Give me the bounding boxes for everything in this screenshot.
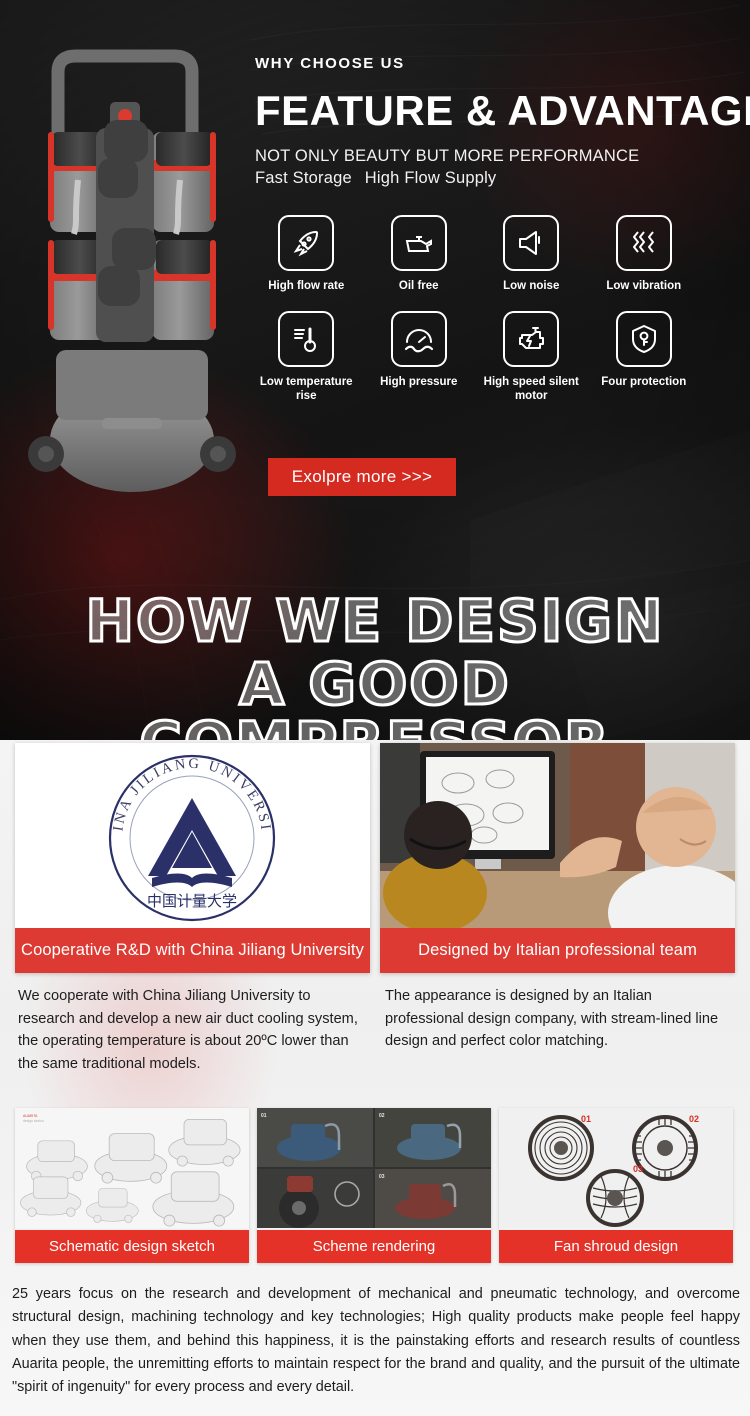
design-cards-row: CHINA JILIANG UNIVERSITY 中国计量大学 Cooperat… (15, 743, 735, 973)
fan-shroud-card[interactable]: 01 02 03 Fan shroud design (499, 1108, 733, 1263)
feature-item[interactable]: High flow rate (250, 215, 363, 293)
feature-item[interactable]: High pressure (363, 311, 476, 403)
fan-shroud-designs: 01 02 03 (499, 1108, 733, 1228)
paragraph-university: We cooperate with China Jiliang Universi… (18, 985, 367, 1075)
process-cards-row: AUARITAdesign sketch Schematic design sk… (15, 1108, 735, 1263)
hero-section: WHY CHOOSE US FEATURE & ADVANTAGE NOT ON… (0, 0, 750, 740)
svg-text:01: 01 (261, 1113, 267, 1119)
gauge-icon (391, 311, 447, 367)
feature-item[interactable]: Low vibration (588, 215, 701, 293)
fan-label-02: 02 (689, 1114, 699, 1124)
feature-label: Four protection (601, 375, 686, 389)
page-title: FEATURE & ADVANTAGE (255, 89, 735, 133)
feature-item[interactable]: Low temperature rise (250, 311, 363, 403)
sketch-card[interactable]: AUARITAdesign sketch Schematic design sk… (15, 1108, 249, 1263)
design-paragraphs: We cooperate with China Jiliang Universi… (18, 985, 734, 1075)
high-flow-label: High Flow Supply (365, 169, 497, 187)
sketch-caption: Schematic design sketch (15, 1230, 249, 1263)
fan-shroud-caption: Fan shroud design (499, 1230, 733, 1263)
design-team-photo (380, 743, 735, 928)
feature-label: High flow rate (268, 279, 344, 293)
svg-text:design sketch: design sketch (23, 1119, 44, 1123)
university-seal: CHINA JILIANG UNIVERSITY 中国计量大学 (15, 743, 370, 928)
fast-storage-label: Fast Storage (255, 169, 360, 188)
render-grid: 010203 (257, 1108, 491, 1228)
university-card[interactable]: CHINA JILIANG UNIVERSITY 中国计量大学 Cooperat… (15, 743, 370, 973)
vibration-icon (616, 215, 672, 271)
oil-can-icon (391, 215, 447, 271)
seal-chinese-text: 中国计量大学 (147, 892, 237, 910)
engine-icon (503, 311, 559, 367)
feature-label: Oil free (399, 279, 439, 293)
compressor-sketches: AUARITAdesign sketch (15, 1108, 249, 1228)
feature-item[interactable]: Oil free (363, 215, 476, 293)
university-card-caption: Cooperative R&D with China Jiliang Unive… (15, 928, 370, 973)
fan-shroud-media: 01 02 03 (499, 1108, 733, 1228)
rocket-icon (278, 215, 334, 271)
paragraph-italian: The appearance is designed by an Italian… (385, 985, 734, 1075)
hero-subline-pair: Fast Storage High Flow Supply (255, 169, 735, 188)
rendering-card[interactable]: 010203 Scheme rendering (257, 1108, 491, 1263)
feature-label: Low noise (503, 279, 559, 293)
design-title-line2: A GOOD COMPRESSOR (0, 655, 750, 740)
footer-paragraph: 25 years focus on the research and devel… (12, 1283, 740, 1400)
design-team-caption: Designed by Italian professional team (380, 928, 735, 973)
feature-label: Low vibration (606, 279, 681, 293)
design-team-illustration (380, 743, 735, 928)
design-section-title: HOW WE DESIGN A GOOD COMPRESSOR (0, 592, 750, 740)
svg-text:03: 03 (379, 1174, 385, 1180)
svg-text:AUARITA: AUARITA (23, 1114, 38, 1118)
shield-key-icon (616, 311, 672, 367)
feature-label: High speed silent motor (483, 375, 579, 403)
feature-item[interactable]: High speed silent motor (475, 311, 588, 403)
product-image (20, 20, 250, 520)
feature-label: Low temperature rise (258, 375, 354, 403)
rendering-media: 010203 (257, 1108, 491, 1228)
thermometer-icon (278, 311, 334, 367)
feature-item[interactable]: Four protection (588, 311, 701, 403)
feature-label: High pressure (380, 375, 457, 389)
eyebrow-text: WHY CHOOSE US (255, 55, 735, 72)
rendering-caption: Scheme rendering (257, 1230, 491, 1263)
svg-text:02: 02 (379, 1113, 385, 1119)
feature-item[interactable]: Low noise (475, 215, 588, 293)
explore-more-button[interactable]: Exolpre more >>> (268, 458, 456, 496)
design-team-card[interactable]: Designed by Italian professional team (380, 743, 735, 973)
fan-label-01: 01 (581, 1114, 591, 1124)
feature-grid: High flow rate Oil free Low noise (250, 215, 700, 403)
speaker-mute-icon (503, 215, 559, 271)
design-title-line1: HOW WE DESIGN (0, 592, 750, 651)
hero-copy: WHY CHOOSE US FEATURE & ADVANTAGE NOT ON… (255, 55, 735, 188)
sketch-media: AUARITAdesign sketch (15, 1108, 249, 1228)
fan-label-03: 03 (633, 1164, 643, 1174)
hero-subline: NOT ONLY BEAUTY BUT MORE PERFORMANCE (255, 147, 735, 166)
university-seal-media: CHINA JILIANG UNIVERSITY 中国计量大学 (15, 743, 370, 928)
